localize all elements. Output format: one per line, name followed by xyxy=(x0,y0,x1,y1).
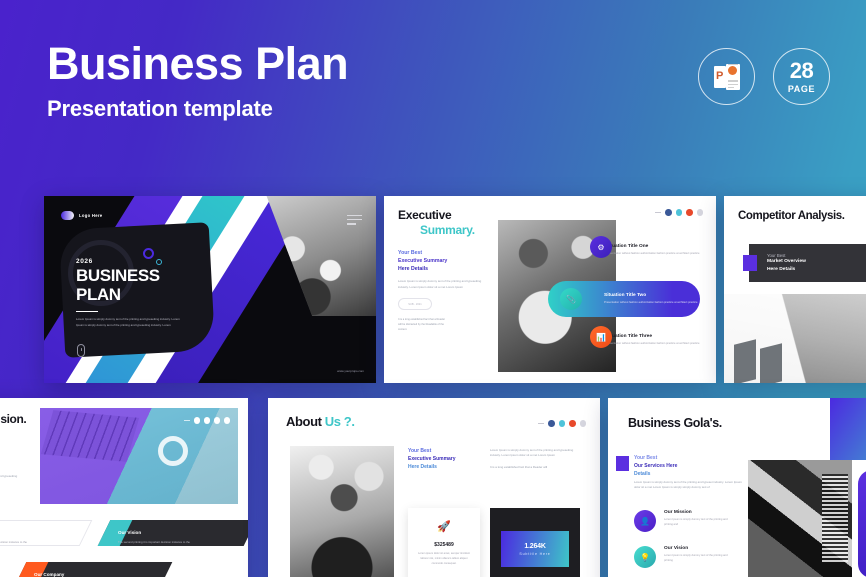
row-desc: The second printing it is important deci… xyxy=(118,540,190,545)
vision-body-text: Lorem Ipsum is simply dummy text of the … xyxy=(0,474,22,485)
youtube-icon[interactable] xyxy=(686,209,693,216)
about-subtitle: Your Best Executive Summary Here Details xyxy=(408,448,456,471)
about-body-block: Lorem Ipsum is simply dummy text of the … xyxy=(490,448,578,470)
executive-left-column: Your Best Executive Summary Here Details… xyxy=(398,250,490,333)
badge-group: 28 PAGE xyxy=(698,48,830,105)
vision-title: Mission & Vision. xyxy=(0,412,26,426)
template-preview-banner: Business Plan Presentation template 28 P… xyxy=(0,0,866,577)
about-body-2: It is a long established fact that a Rea… xyxy=(490,465,578,470)
about-metric-panel: 1.264K Subtitle Here xyxy=(490,508,580,577)
accent-square-icon xyxy=(616,456,629,471)
slide-card-executive-summary[interactable]: Executive Summary. Your Best Executive S… xyxy=(384,196,716,383)
competitor-bar-line1: Market Overview xyxy=(767,258,806,265)
facebook-icon[interactable] xyxy=(665,209,672,216)
situation-desc: Presentation without fashion authorizati… xyxy=(606,341,704,346)
divider xyxy=(655,212,661,213)
situation-title: Situation Title One xyxy=(606,244,704,249)
row-title: Our Company xyxy=(34,572,64,577)
hero-block: Business Plan Presentation template xyxy=(47,40,348,122)
about-metric-gradient: 1.264K Subtitle Here xyxy=(501,531,569,567)
situation-desc: Presentation without fashion authorizati… xyxy=(604,300,698,305)
slide-card-business-goals[interactable]: Business Gola's. Your Best Our Services … xyxy=(608,398,866,577)
instagram-icon[interactable] xyxy=(676,209,683,216)
goals-item-desc: Lorem Ipsum is simply dummy text of the … xyxy=(664,553,736,563)
hamburger-menu-icon[interactable] xyxy=(347,215,362,228)
youtube-icon[interactable] xyxy=(569,420,576,427)
instagram-icon[interactable] xyxy=(204,417,211,424)
cover-title-line2: PLAN xyxy=(76,286,201,303)
page-count-badge: 28 PAGE xyxy=(773,48,830,105)
vision-row-company[interactable]: Our Company The second printing it is im… xyxy=(20,562,166,577)
divider xyxy=(76,311,98,313)
divider xyxy=(538,423,544,424)
cover-logo: Logo Here xyxy=(61,211,102,220)
cover-title-line1: BUSINESS xyxy=(76,267,201,284)
social-icons-row[interactable] xyxy=(538,420,586,427)
about-card-amount: $325489 xyxy=(434,542,453,548)
competitor-title: Competitor Analysis. xyxy=(738,210,866,222)
settings-icon: ⚙ xyxy=(590,236,612,258)
goals-subtitle: Your Best Our Services Here Details xyxy=(634,454,677,478)
executive-footer-text: It is a long established fact that a Rea… xyxy=(398,318,448,333)
page-count-value: 28 xyxy=(790,60,813,82)
goals-body-text: Lorem Ipsum is simply dummy text of the … xyxy=(634,480,744,491)
goals-gradient-block xyxy=(830,398,866,460)
facebook-icon[interactable] xyxy=(194,417,201,424)
situation-item-one: Situation Title One Presentation without… xyxy=(606,244,704,256)
social-icons-row[interactable] xyxy=(184,417,230,424)
goals-item-mission: 👤 Our Mission Lorem Ipsum is simply dumm… xyxy=(634,510,736,532)
linkedin-icon[interactable] xyxy=(580,420,587,427)
page-title: Business Plan xyxy=(47,40,348,87)
about-stat-card[interactable]: 🚀 $325489 Lorem ipsum dolor sit amet, se… xyxy=(408,508,480,577)
idea-icon: 💡 xyxy=(634,546,656,568)
situation-title: Situation Title Two xyxy=(604,293,698,298)
goals-stat-pill: 2021 $770 xyxy=(858,470,866,577)
executive-subtitle: Your Best Executive Summary Here Details xyxy=(398,250,490,273)
about-title-accent: Us ?. xyxy=(325,414,355,429)
twitter-icon[interactable] xyxy=(214,417,221,424)
situation-item-three: Situation Title Three Presentation witho… xyxy=(606,334,704,346)
row-desc: The second printing it is important deci… xyxy=(0,540,27,545)
cup-shape xyxy=(158,436,188,466)
about-body-1: Lorem Ipsum is simply dummy text of the … xyxy=(490,448,578,459)
paperclip-icon: 📎 xyxy=(560,288,582,310)
goals-subtitle-c: Details xyxy=(634,470,677,478)
about-stat-sub: Subtitle Here xyxy=(519,552,550,556)
cover-year: 2026 xyxy=(76,258,201,265)
powerpoint-format-badge xyxy=(698,48,755,105)
about-subtitle-c: Here Details xyxy=(408,464,456,472)
about-photo xyxy=(290,446,394,577)
row-title: Our Vision xyxy=(118,530,141,535)
about-title: About Us ?. xyxy=(286,414,355,429)
powerpoint-icon xyxy=(714,64,740,90)
accent-square-icon xyxy=(743,255,757,271)
executive-subtitle-a: Your Best xyxy=(398,250,490,258)
page-count-label: PAGE xyxy=(788,84,815,94)
linkedin-icon[interactable] xyxy=(224,417,231,424)
user-shield-icon: 👤 xyxy=(634,510,656,532)
executive-subtitle-b: Executive Summary xyxy=(398,258,490,266)
competitor-overview-bar: Your Best Market Overview Here Details xyxy=(749,244,866,282)
slide-card-cover[interactable]: Logo Here 2026 BUSINESS PLAN Lorem Ipsum… xyxy=(44,196,376,383)
about-stat-value: 1.264K xyxy=(524,543,545,550)
about-subtitle-a: Your Best xyxy=(408,448,456,456)
goals-photo xyxy=(748,460,852,577)
facebook-icon[interactable] xyxy=(548,420,555,427)
vision-row-mission[interactable]: Our Mission The second printing it is im… xyxy=(0,520,86,546)
cover-text-block: 2026 BUSINESS PLAN Lorem Ipsum is simply… xyxy=(76,258,201,328)
page-subtitle: Presentation template xyxy=(47,96,348,122)
goals-item-vision: 💡 Our Vision Lorem Ipsum is simply dummy… xyxy=(634,546,736,568)
keyboard-shape xyxy=(41,410,139,462)
goals-item-title: Our Mission xyxy=(664,510,736,515)
about-title-dark: About xyxy=(286,414,322,429)
cover-body-text: Lorem Ipsum is simply dummy text of the … xyxy=(76,317,181,328)
cover-url: www.yourprojio.com xyxy=(337,369,364,373)
situation-desc: Presentation without fashion authorizati… xyxy=(606,251,704,256)
goals-title: Business Gola's. xyxy=(628,416,722,430)
chart-icon: 📊 xyxy=(590,326,612,348)
divider xyxy=(184,420,190,421)
competitor-photo xyxy=(724,294,866,383)
scroll-mouse-icon xyxy=(77,344,85,357)
goals-subtitle-b: Our Services Here xyxy=(634,462,677,470)
executive-body-text: Lorem Ipsum is simply dummy text of the … xyxy=(398,279,484,290)
slide-card-competitor-analysis[interactable]: Competitor Analysis. Your Best Market Ov… xyxy=(724,196,866,383)
goals-subtitle-a: Your Best xyxy=(634,454,677,462)
slide-card-about-us[interactable]: About Us ?. Your Best Executive Summary … xyxy=(268,398,600,577)
goals-item-desc: Lorem Ipsum is simply dummy text of the … xyxy=(664,517,736,527)
goals-item-title: Our Vision xyxy=(664,546,736,551)
social-icons-row[interactable] xyxy=(655,209,703,216)
situation-title: Situation Title Three xyxy=(606,334,704,339)
about-card-desc: Lorem ipsum dolor sit amet, semper tinci… xyxy=(416,552,472,567)
logo-mark-icon xyxy=(61,211,74,220)
linkedin-icon[interactable] xyxy=(697,209,704,216)
slide-card-mission-vision[interactable]: Mission & Vision. Your Best Mission Visi… xyxy=(0,398,248,577)
logo-text: Logo Here xyxy=(79,213,102,218)
instagram-icon[interactable] xyxy=(559,420,566,427)
competitor-bar-line2: Here Details xyxy=(767,266,806,273)
executive-cloud-chip: SUB - 2021 xyxy=(398,298,432,310)
vision-row-vision[interactable]: Our Vision The second printing it is imp… xyxy=(104,520,248,546)
executive-subtitle-c: Here Details xyxy=(398,266,490,274)
about-subtitle-b: Executive Summary xyxy=(408,456,456,464)
vision-photo xyxy=(40,408,238,504)
rocket-icon: 🚀 xyxy=(437,522,451,533)
